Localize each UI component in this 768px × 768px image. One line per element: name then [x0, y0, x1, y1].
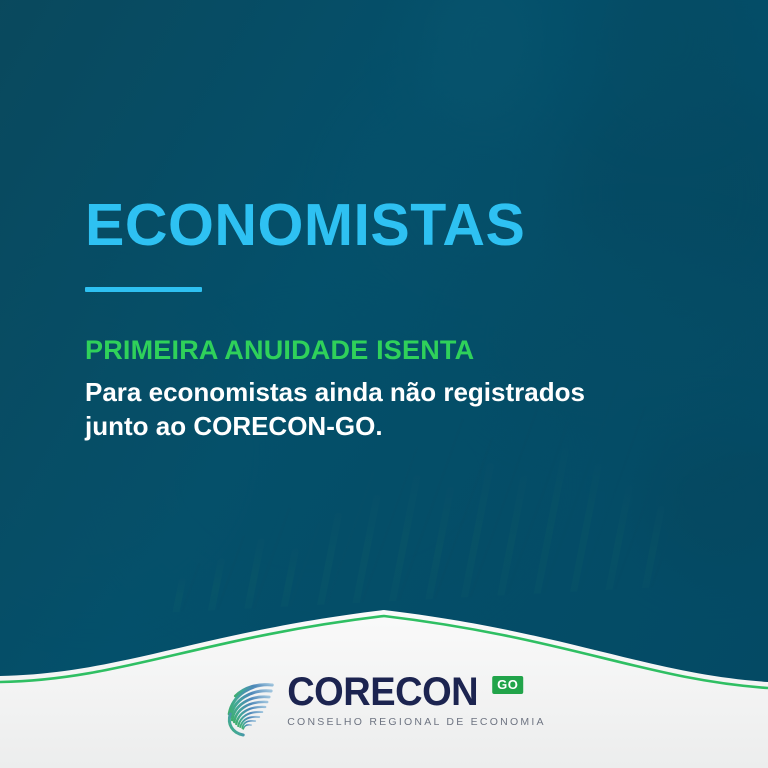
title-underline-rule	[85, 287, 202, 292]
page-title: ECONOMISTAS	[85, 196, 705, 255]
body-copy-line-1: Para economistas ainda não registrados	[85, 375, 705, 409]
corecon-swirl-icon	[222, 676, 278, 738]
corecon-wordmark-row: CORECON GO	[287, 674, 546, 712]
copy-block: ECONOMISTAS PRIMEIRA ANUIDADE ISENTA Par…	[85, 196, 705, 443]
offer-kicker: PRIMEIRA ANUIDADE ISENTA	[85, 336, 705, 366]
corecon-logo: CORECON GO CONSELHO REGIONAL DE ECONOMIA	[222, 674, 546, 738]
poster: ECONOMISTAS PRIMEIRA ANUIDADE ISENTA Par…	[0, 0, 768, 768]
state-badge-go: GO	[492, 676, 523, 694]
body-copy: Para economistas ainda não registrados j…	[85, 375, 705, 444]
corecon-wordmark: CORECON	[287, 674, 478, 712]
corecon-logo-text: CORECON GO CONSELHO REGIONAL DE ECONOMIA	[287, 674, 546, 728]
corecon-tagline: CONSELHO REGIONAL DE ECONOMIA	[287, 716, 546, 728]
body-copy-line-2: junto ao CORECON-GO.	[85, 409, 705, 443]
